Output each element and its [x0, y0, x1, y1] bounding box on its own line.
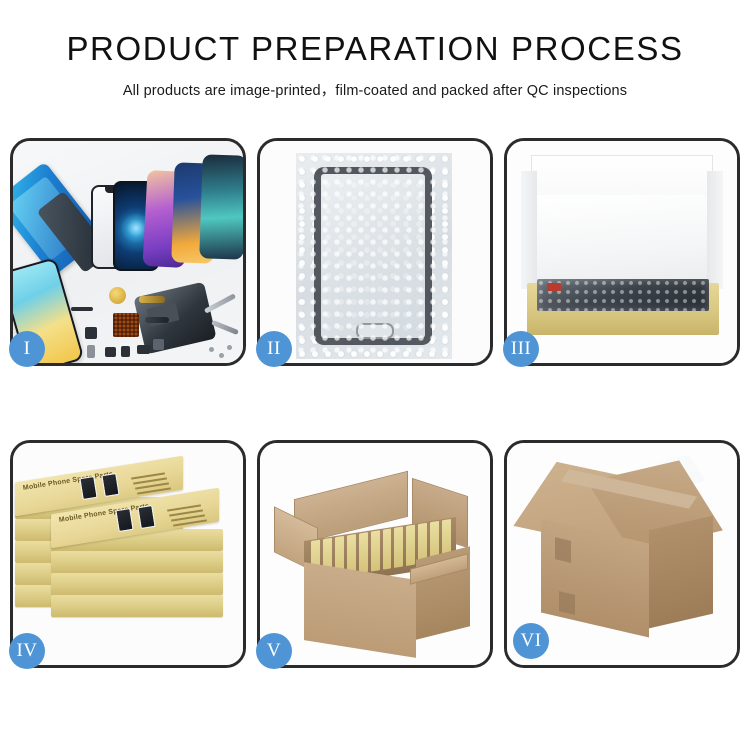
page-subtitle: All products are image-printed，film-coat…	[0, 79, 750, 100]
part-flex-cable-gold-icon	[139, 296, 165, 303]
phone-teal-wave-icon	[199, 154, 243, 259]
part-screw-icon	[227, 345, 232, 350]
product-preparation-page: PRODUCT PREPARATION PROCESS All products…	[0, 0, 750, 750]
process-step-panel-6: VI	[504, 440, 740, 668]
foam-insert-icon	[537, 195, 707, 291]
carton-seam-upper-icon	[555, 537, 571, 563]
process-step-panel-2: II	[257, 138, 493, 366]
carton-front-face-icon	[304, 562, 416, 658]
sealed-carton-side-icon	[649, 516, 713, 629]
part-antenna-bar-icon	[71, 307, 93, 311]
part-flex-cable-dark-icon	[145, 317, 169, 323]
step-badge-1: I	[9, 331, 45, 367]
step-2-image	[260, 141, 490, 363]
part-copper-grid-icon	[113, 313, 139, 337]
box-flap-left-icon	[521, 171, 537, 289]
part-screw-icon	[209, 347, 214, 352]
process-step-panel-3: III	[504, 138, 740, 366]
part-screw-icon	[219, 353, 224, 358]
part-speaker-icon	[137, 345, 150, 354]
part-side-button-icon	[87, 345, 95, 358]
process-step-grid: I II III	[10, 138, 740, 678]
process-step-panel-4: Mobile Phone Spare Parts Mobile Phone Sp…	[10, 440, 246, 668]
page-header: PRODUCT PREPARATION PROCESS All products…	[0, 0, 750, 100]
step-badge-4: IV	[9, 633, 45, 669]
part-gold-coil-icon	[109, 287, 126, 304]
red-label-tab-icon	[547, 283, 561, 291]
step-4-image: Mobile Phone Spare Parts Mobile Phone Sp…	[13, 443, 243, 665]
step-3-image	[507, 141, 737, 363]
step-badge-3: III	[503, 331, 539, 367]
packed-screen-icon	[537, 279, 709, 311]
step-5-image	[260, 443, 490, 665]
part-camera-module-icon	[85, 327, 97, 339]
step-badge-6: VI	[513, 623, 549, 659]
step-badge-2: II	[256, 331, 292, 367]
part-chip-icon	[121, 346, 130, 357]
step-badge-5: V	[256, 633, 292, 669]
part-small-connector-icon	[105, 347, 116, 357]
wrapped-screen-icon	[314, 167, 432, 345]
page-title: PRODUCT PREPARATION PROCESS	[0, 30, 750, 68]
bubble-wrap-sheet-icon	[296, 153, 452, 359]
part-bracket-icon	[153, 339, 164, 350]
carton-seam-lower-icon	[559, 591, 575, 615]
box-flap-right-icon	[707, 171, 723, 289]
process-step-panel-1: I	[10, 138, 246, 366]
box-stack-icon: Mobile Phone Spare Parts Mobile Phone Sp…	[15, 469, 243, 649]
step-1-image	[13, 141, 243, 363]
process-step-panel-5: V	[257, 440, 493, 668]
